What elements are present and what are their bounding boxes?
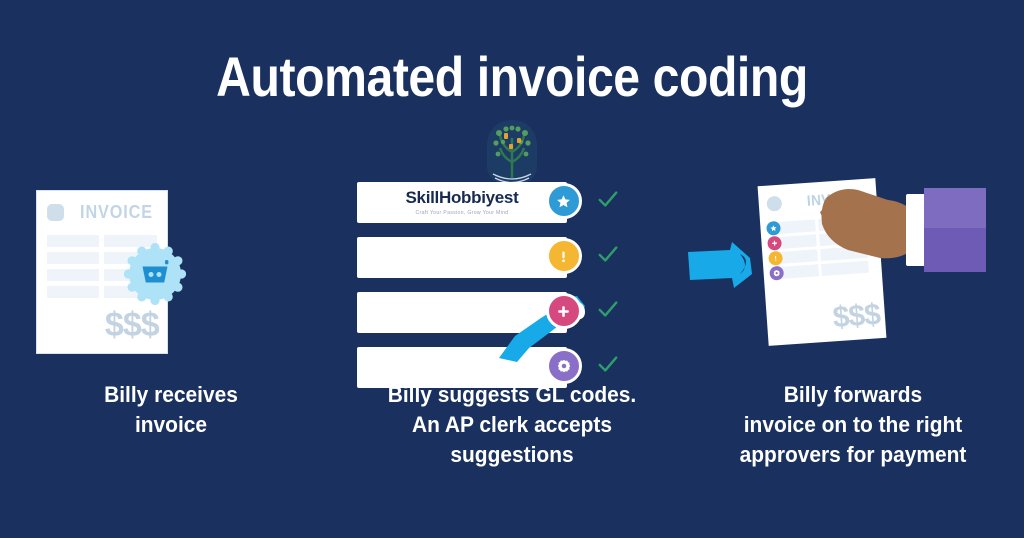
gear-icon[interactable]: [546, 348, 582, 384]
step-2-caption: Billy suggests GL codes. An AP clerk acc…: [372, 380, 651, 470]
suggestion-bar-brand[interactable]: SkillHobbiyest Craft Your Passion, Grow …: [357, 182, 567, 223]
checkmark-icon: [597, 243, 619, 265]
steps-row: INVOICE: [0, 120, 1024, 520]
invoice-cell: [47, 235, 99, 247]
brand-name: SkillHobbiyest: [406, 188, 519, 208]
gear-glyph: [556, 358, 572, 374]
step-1-illustration: INVOICE: [6, 120, 336, 370]
exclamation-glyph: [772, 254, 781, 263]
suggestion-bar[interactable]: [357, 237, 567, 278]
step-3-column: INVOICE: [688, 120, 1018, 520]
brand-tagline: Craft Your Passion, Grow Your Mind: [416, 210, 509, 216]
step-2-illustration: SkillHobbiyest Craft Your Passion, Grow …: [347, 120, 677, 370]
invoice-cell: [47, 252, 99, 264]
star-icon[interactable]: [546, 183, 582, 219]
invoice-logo-placeholder: [47, 204, 64, 221]
step-3-caption: Billy forwards invoice on to the right a…: [714, 380, 993, 470]
step-2-column: SkillHobbiyest Craft Your Passion, Grow …: [347, 120, 677, 520]
poster-canvas: Automated invoice coding INVOICE: [0, 0, 1024, 538]
checkmark-icon: [597, 188, 619, 210]
plus-glyph: [555, 303, 572, 320]
human-hand-icon: [818, 172, 993, 292]
step-1-caption: Billy receives invoice: [31, 380, 310, 440]
invoice-logo-placeholder: [767, 195, 783, 211]
plus-glyph: [771, 239, 780, 248]
star-glyph: [555, 193, 572, 210]
gear-glyph: [773, 269, 782, 278]
invoice-total-amount: $$$: [832, 298, 881, 335]
invoice-total-amount: $$$: [105, 306, 159, 345]
suggestion-row[interactable]: [357, 235, 667, 279]
invoice-heading: INVOICE: [80, 202, 153, 223]
star-glyph: [770, 224, 779, 233]
exclamation-glyph: [555, 248, 572, 265]
caption-line: approvers for payment: [714, 440, 993, 470]
suggestion-row[interactable]: SkillHobbiyest Craft Your Passion, Grow …: [357, 180, 667, 224]
caption-line: An AP clerk accepts: [372, 410, 651, 440]
step-3-illustration: INVOICE: [688, 120, 1018, 370]
caption-line: invoice: [31, 410, 310, 440]
caption-line: Billy receives: [31, 380, 310, 410]
gl-code-suggestion-list: SkillHobbiyest Craft Your Passion, Grow …: [357, 180, 667, 400]
robot-icon: [124, 243, 186, 305]
caption-line: invoice on to the right: [714, 410, 993, 440]
plus-icon[interactable]: [546, 293, 582, 329]
page-title: Automated invoice coding: [72, 44, 953, 109]
alert-icon[interactable]: [546, 238, 582, 274]
invoice-header: INVOICE: [47, 201, 157, 223]
caption-line: Billy forwards: [714, 380, 993, 410]
step-1-column: INVOICE: [6, 120, 336, 520]
invoice-cell: [47, 286, 99, 298]
caption-line: Billy suggests GL codes.: [372, 380, 651, 410]
invoice-cell: [47, 269, 99, 281]
caption-line: suggestions: [372, 440, 651, 470]
